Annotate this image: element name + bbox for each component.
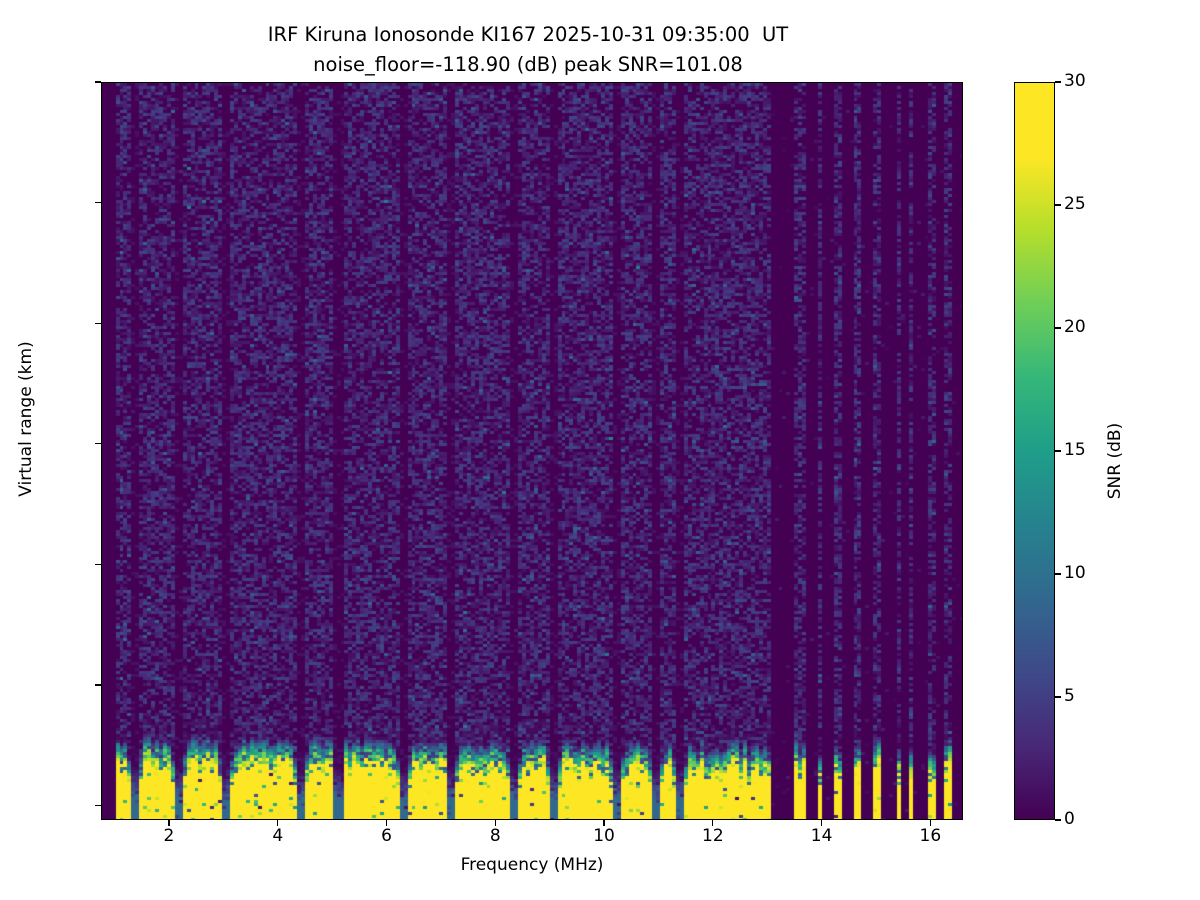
x-tick-label: 10	[564, 828, 644, 845]
x-tick-label: 12	[673, 828, 753, 845]
x-tick-label: 16	[890, 828, 970, 845]
x-tick-mark	[168, 820, 169, 826]
ionogram-heatmap	[102, 83, 963, 820]
x-tick-mark	[712, 820, 713, 826]
y-tick-mark	[95, 443, 101, 444]
colorbar-tick-mark	[1055, 204, 1061, 205]
x-tick-label: 6	[347, 828, 427, 845]
y-tick-mark	[95, 323, 101, 324]
x-tick-label: 2	[129, 828, 209, 845]
colorbar-gradient	[1015, 83, 1054, 819]
x-tick-mark	[930, 820, 931, 826]
title-line-1: IRF Kiruna Ionosonde KI167 2025-10-31 09…	[0, 20, 1056, 50]
x-tick-mark	[277, 820, 278, 826]
colorbar-tick-label: 25	[1064, 196, 1134, 213]
colorbar-tick-mark	[1055, 573, 1061, 574]
x-tick-label: 8	[455, 828, 535, 845]
ionogram-figure: IRF Kiruna Ionosonde KI167 2025-10-31 09…	[0, 0, 1200, 900]
y-axis-label: Virtual range (km)	[16, 139, 36, 699]
title-line-2: noise_floor=-118.90 (dB) peak SNR=101.08	[0, 50, 1056, 80]
colorbar-tick-mark	[1055, 81, 1061, 82]
x-tick-mark	[821, 820, 822, 826]
colorbar-tick-label: 0	[1064, 811, 1134, 828]
colorbar-tick-mark	[1055, 450, 1061, 451]
colorbar-tick-mark	[1055, 819, 1061, 820]
colorbar-tick-mark	[1055, 696, 1061, 697]
colorbar-label: SNR (dB)	[1105, 271, 1125, 651]
colorbar-tick-label: 5	[1064, 688, 1134, 705]
y-tick-mark	[95, 805, 101, 806]
ionogram-plot-area[interactable]	[101, 82, 963, 820]
y-tick-mark	[95, 202, 101, 203]
figure-title: IRF Kiruna Ionosonde KI167 2025-10-31 09…	[0, 20, 1056, 80]
y-tick-mark	[95, 684, 101, 685]
x-tick-label: 4	[238, 828, 318, 845]
colorbar[interactable]	[1014, 82, 1055, 820]
x-tick-mark	[386, 820, 387, 826]
x-axis-label: Frequency (MHz)	[101, 855, 963, 875]
y-tick-mark	[95, 564, 101, 565]
x-tick-label: 14	[782, 828, 862, 845]
x-tick-mark	[495, 820, 496, 826]
colorbar-tick-mark	[1055, 327, 1061, 328]
y-tick-mark	[95, 81, 101, 82]
colorbar-tick-label: 30	[1064, 73, 1134, 90]
x-tick-mark	[603, 820, 604, 826]
